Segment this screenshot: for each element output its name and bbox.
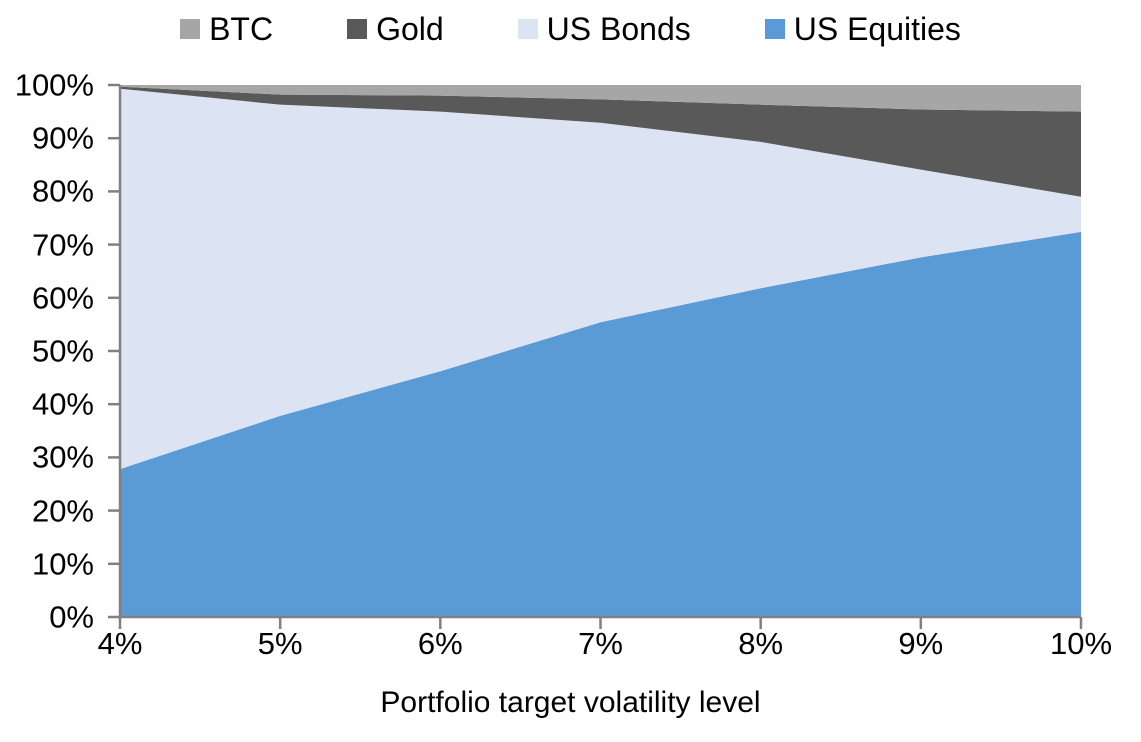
x-tick-label: 6% (418, 628, 463, 659)
x-tick-label: 8% (738, 628, 783, 659)
x-tick-label: 4% (98, 628, 143, 659)
x-tick-label: 5% (258, 628, 303, 659)
x-tick-label: 10% (1050, 628, 1112, 659)
x-tick-label: 9% (898, 628, 943, 659)
x-axis-tick-labels: 4%5%6%7%8%9%10% (0, 0, 1141, 742)
x-tick-label: 7% (578, 628, 623, 659)
stacked-area-chart: BTC Gold US Bonds US Equities 0%10%20%30… (0, 0, 1141, 742)
x-axis-title: Portfolio target volatility level (0, 688, 1141, 718)
